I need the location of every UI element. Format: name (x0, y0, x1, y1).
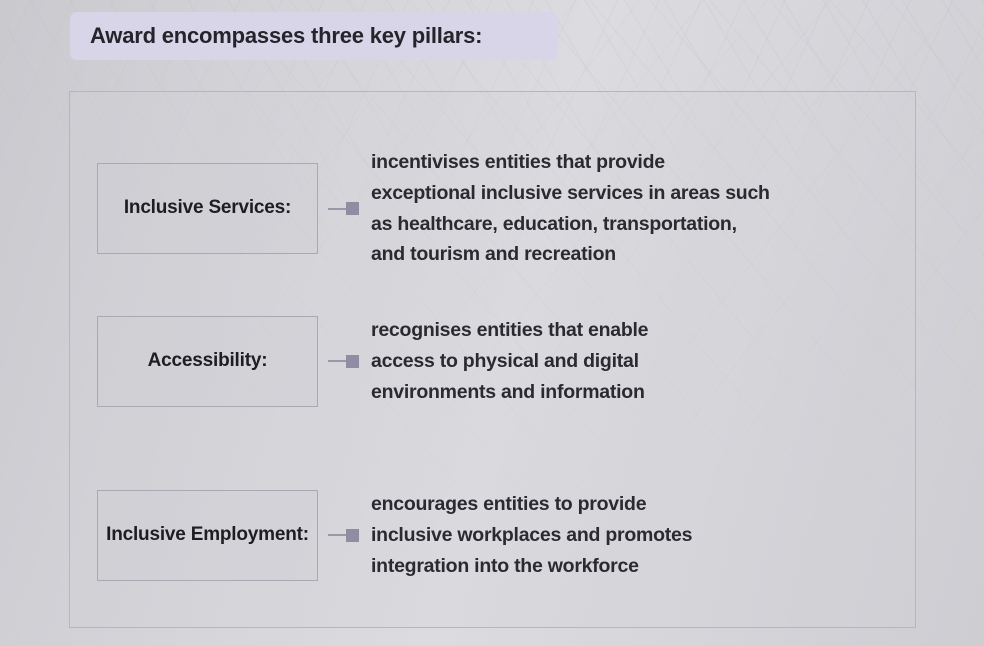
pillar-label-line: Inclusive (106, 524, 186, 545)
pillar-description-line: access to physical and digital (371, 346, 907, 377)
connector-arrow-icon (318, 528, 371, 542)
pillars-container: Inclusive Services: incentivises entitie… (69, 91, 916, 628)
pillar-label-text: Inclusive Services: (124, 196, 291, 221)
pillar-row: Inclusive Services: incentivises entitie… (97, 147, 907, 270)
pillar-row: Accessibility: recognises entities that … (97, 315, 907, 407)
pillar-row: Inclusive Employment: encourages entitie… (97, 489, 907, 581)
pillar-description-accessibility: recognises entities that enable access t… (371, 315, 907, 407)
heading-banner: Award encompasses three key pillars: (70, 12, 558, 60)
connector-square-icon (346, 202, 359, 215)
pillar-description-line: recognises entities that enable (371, 315, 907, 346)
pillar-description-inclusive-services: incentivises entities that provide excep… (371, 147, 907, 270)
pillar-label-line: Inclusive (124, 197, 204, 218)
connector-line (328, 534, 346, 536)
slide-canvas: Award encompasses three key pillars: Inc… (0, 0, 984, 646)
connector-line (328, 360, 346, 362)
connector-arrow-icon (318, 354, 371, 368)
pillar-label-line: Employment: (191, 524, 309, 545)
pillar-description-line: integration into the workforce (371, 551, 907, 582)
page-title: Award encompasses three key pillars: (90, 23, 482, 49)
pillar-description-line: incentivises entities that provide (371, 147, 907, 178)
connector-square-icon (346, 355, 359, 368)
pillar-label-box-accessibility[interactable]: Accessibility: (97, 316, 318, 407)
pillar-label-box-inclusive-services[interactable]: Inclusive Services: (97, 163, 318, 254)
connector-line (328, 208, 346, 210)
pillar-description-inclusive-employment: encourages entities to provide inclusive… (371, 489, 907, 581)
pillar-label-text: Inclusive Employment: (106, 523, 309, 548)
connector-square-icon (346, 529, 359, 542)
pillar-label-box-inclusive-employment[interactable]: Inclusive Employment: (97, 490, 318, 581)
pillar-description-line: exceptional inclusive services in areas … (371, 178, 907, 209)
pillar-description-line: as healthcare, education, transportation… (371, 209, 907, 240)
pillar-description-line: inclusive workplaces and promotes (371, 520, 907, 551)
pillar-label-line: Accessibility: (148, 350, 268, 371)
connector-arrow-icon (318, 202, 371, 216)
pillar-description-line: encourages entities to provide (371, 489, 907, 520)
pillar-label-line: Services: (208, 197, 291, 218)
pillar-description-line: and tourism and recreation (371, 239, 907, 270)
pillar-description-line: environments and information (371, 377, 907, 408)
pillar-label-text: Accessibility: (148, 349, 268, 374)
